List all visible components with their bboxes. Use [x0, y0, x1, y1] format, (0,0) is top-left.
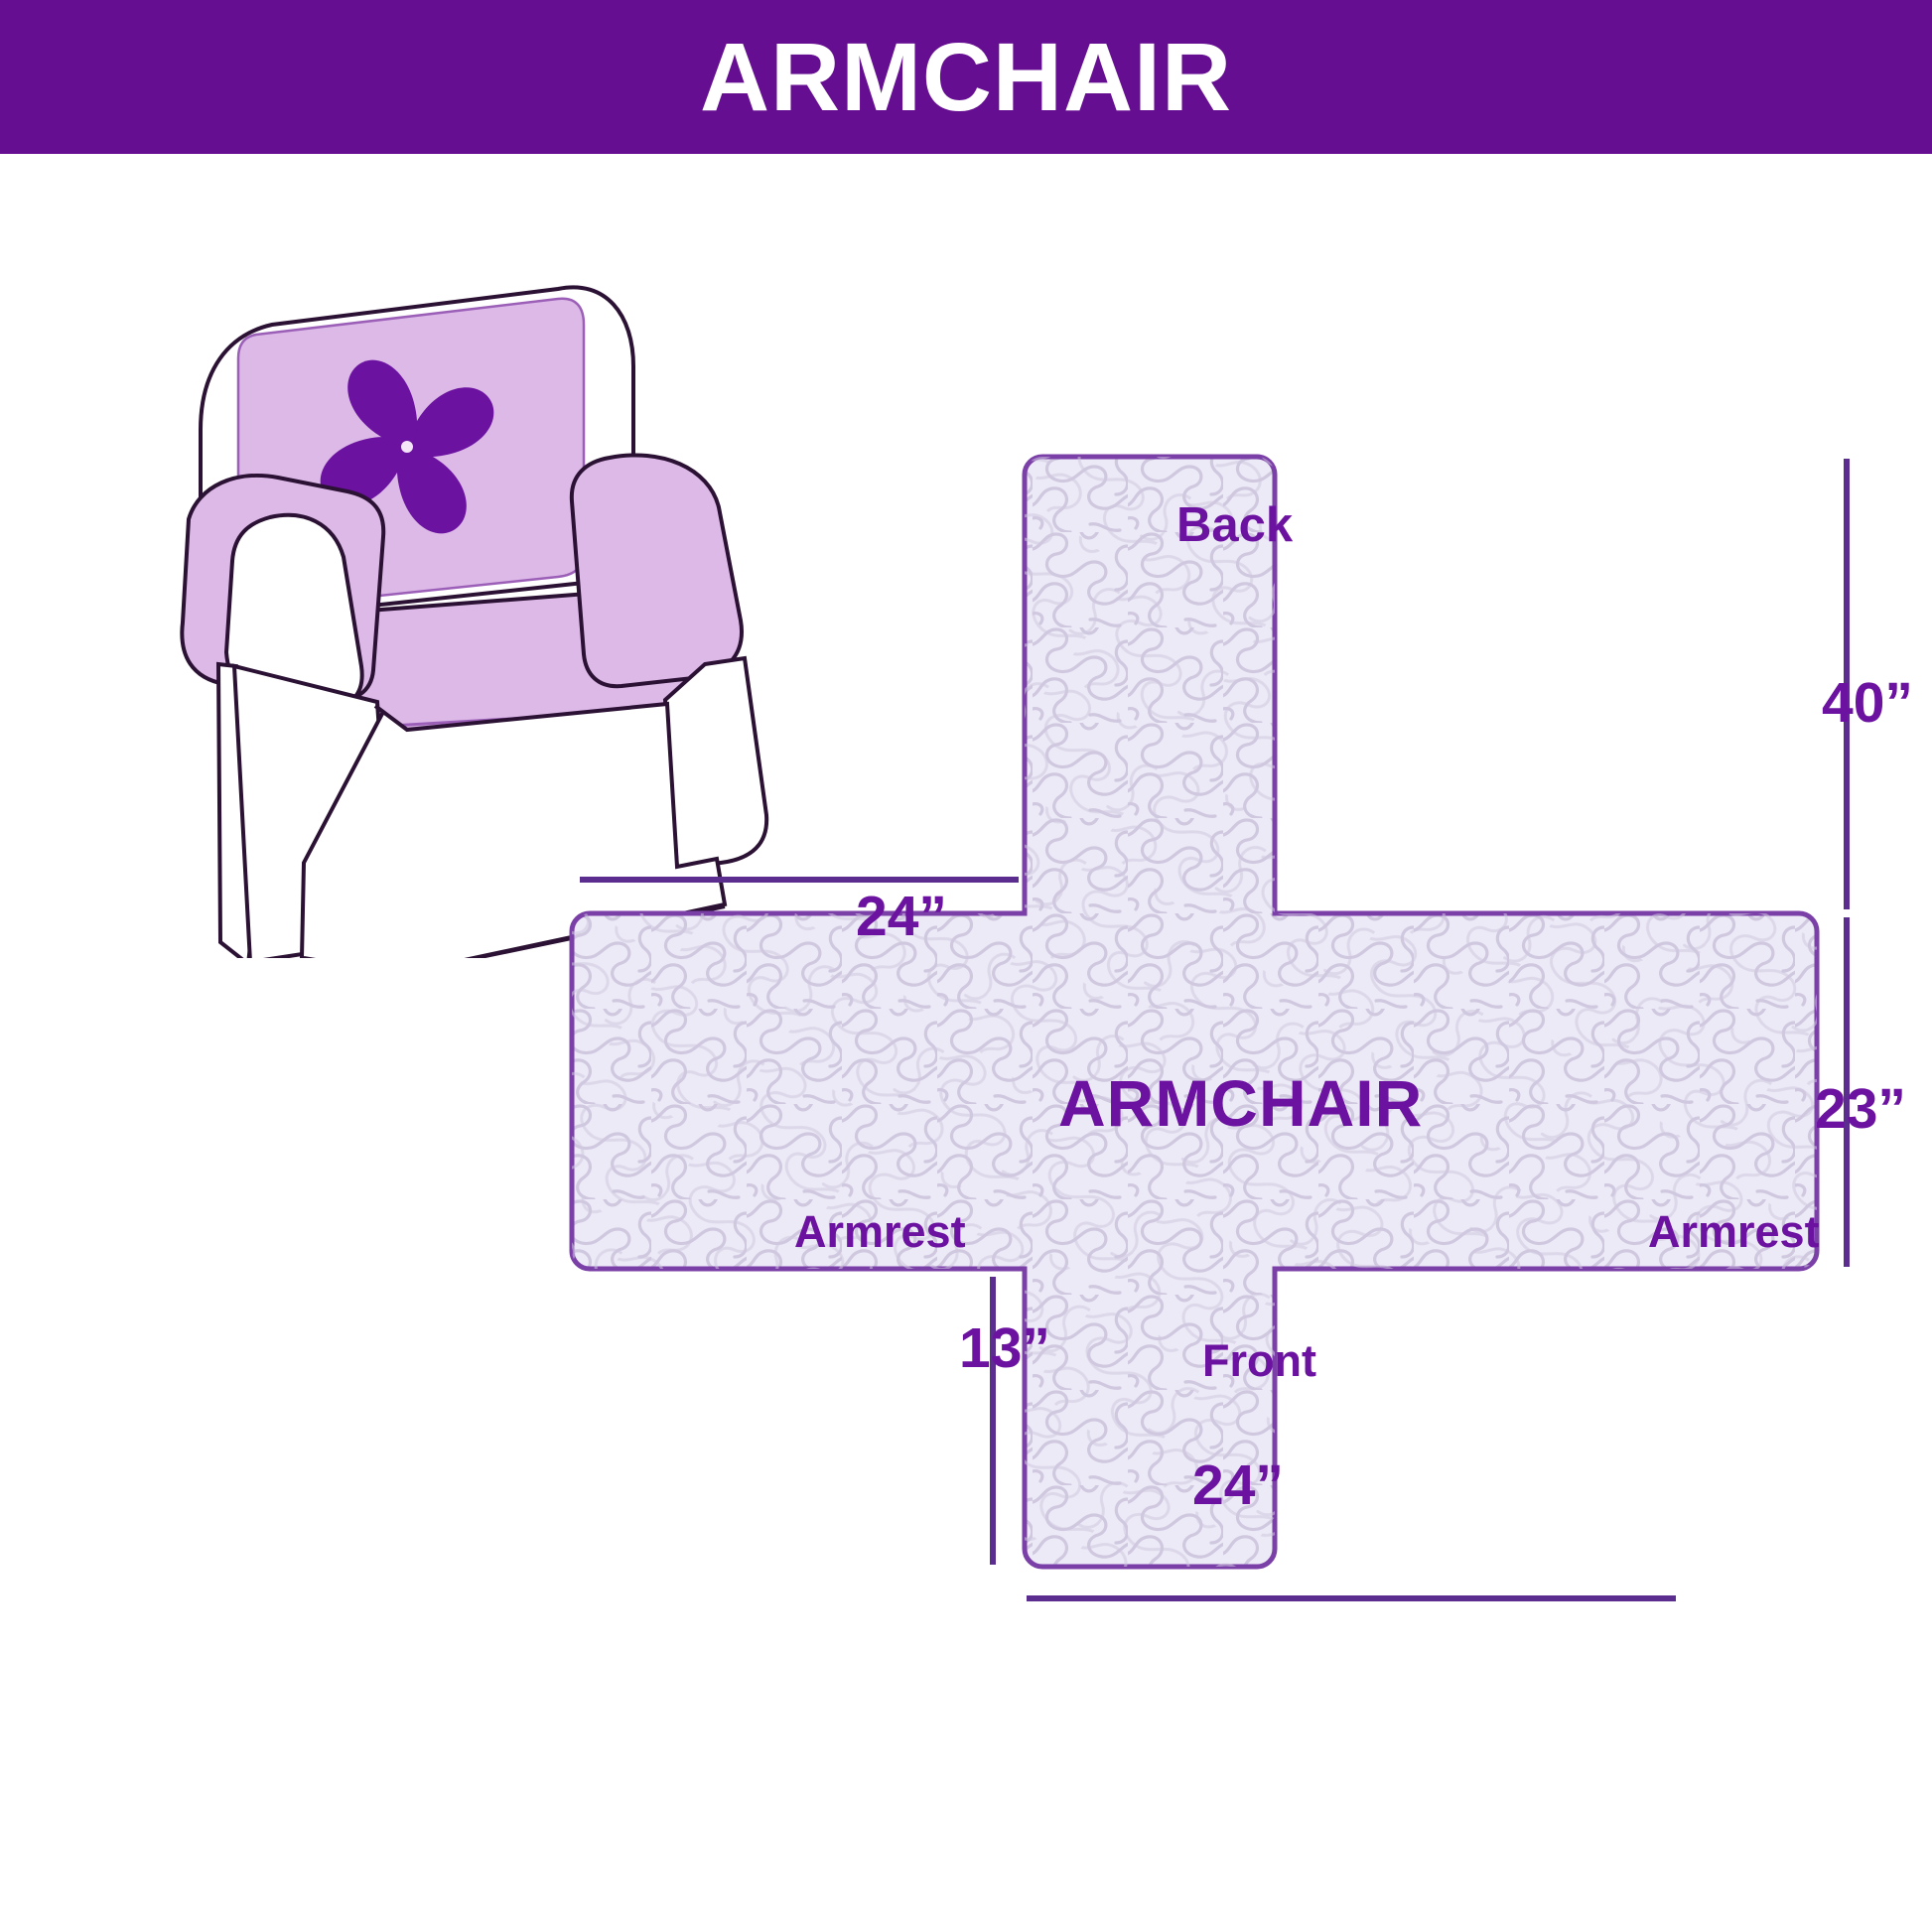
- panel-label-armrest-left: Armrest: [794, 1209, 966, 1254]
- dimension-label-arm-width-top: 24”: [856, 889, 947, 945]
- panel-label-front: Front: [1202, 1338, 1316, 1383]
- header-banner: ARMCHAIR: [0, 0, 1932, 154]
- dimension-label-front-width: 24”: [1192, 1457, 1284, 1514]
- panel-label-armrest-right: Armrest: [1648, 1209, 1820, 1254]
- dimension-label-center-height: 23”: [1815, 1081, 1906, 1138]
- panel-label-back: Back: [1176, 501, 1293, 550]
- page-title: ARMCHAIR: [700, 29, 1232, 125]
- quilt-texture-overlay: [556, 437, 1932, 1608]
- slipcover-cross-diagram: [556, 437, 1932, 1608]
- cross-shape: [556, 437, 1932, 1608]
- product-dimension-infographic: ARMCHAIR: [0, 0, 1932, 1932]
- dimension-label-back-height: 40”: [1822, 675, 1913, 732]
- panel-label-center: ARMCHAIR: [1058, 1070, 1423, 1136]
- dimension-label-front-height: 13”: [959, 1320, 1050, 1377]
